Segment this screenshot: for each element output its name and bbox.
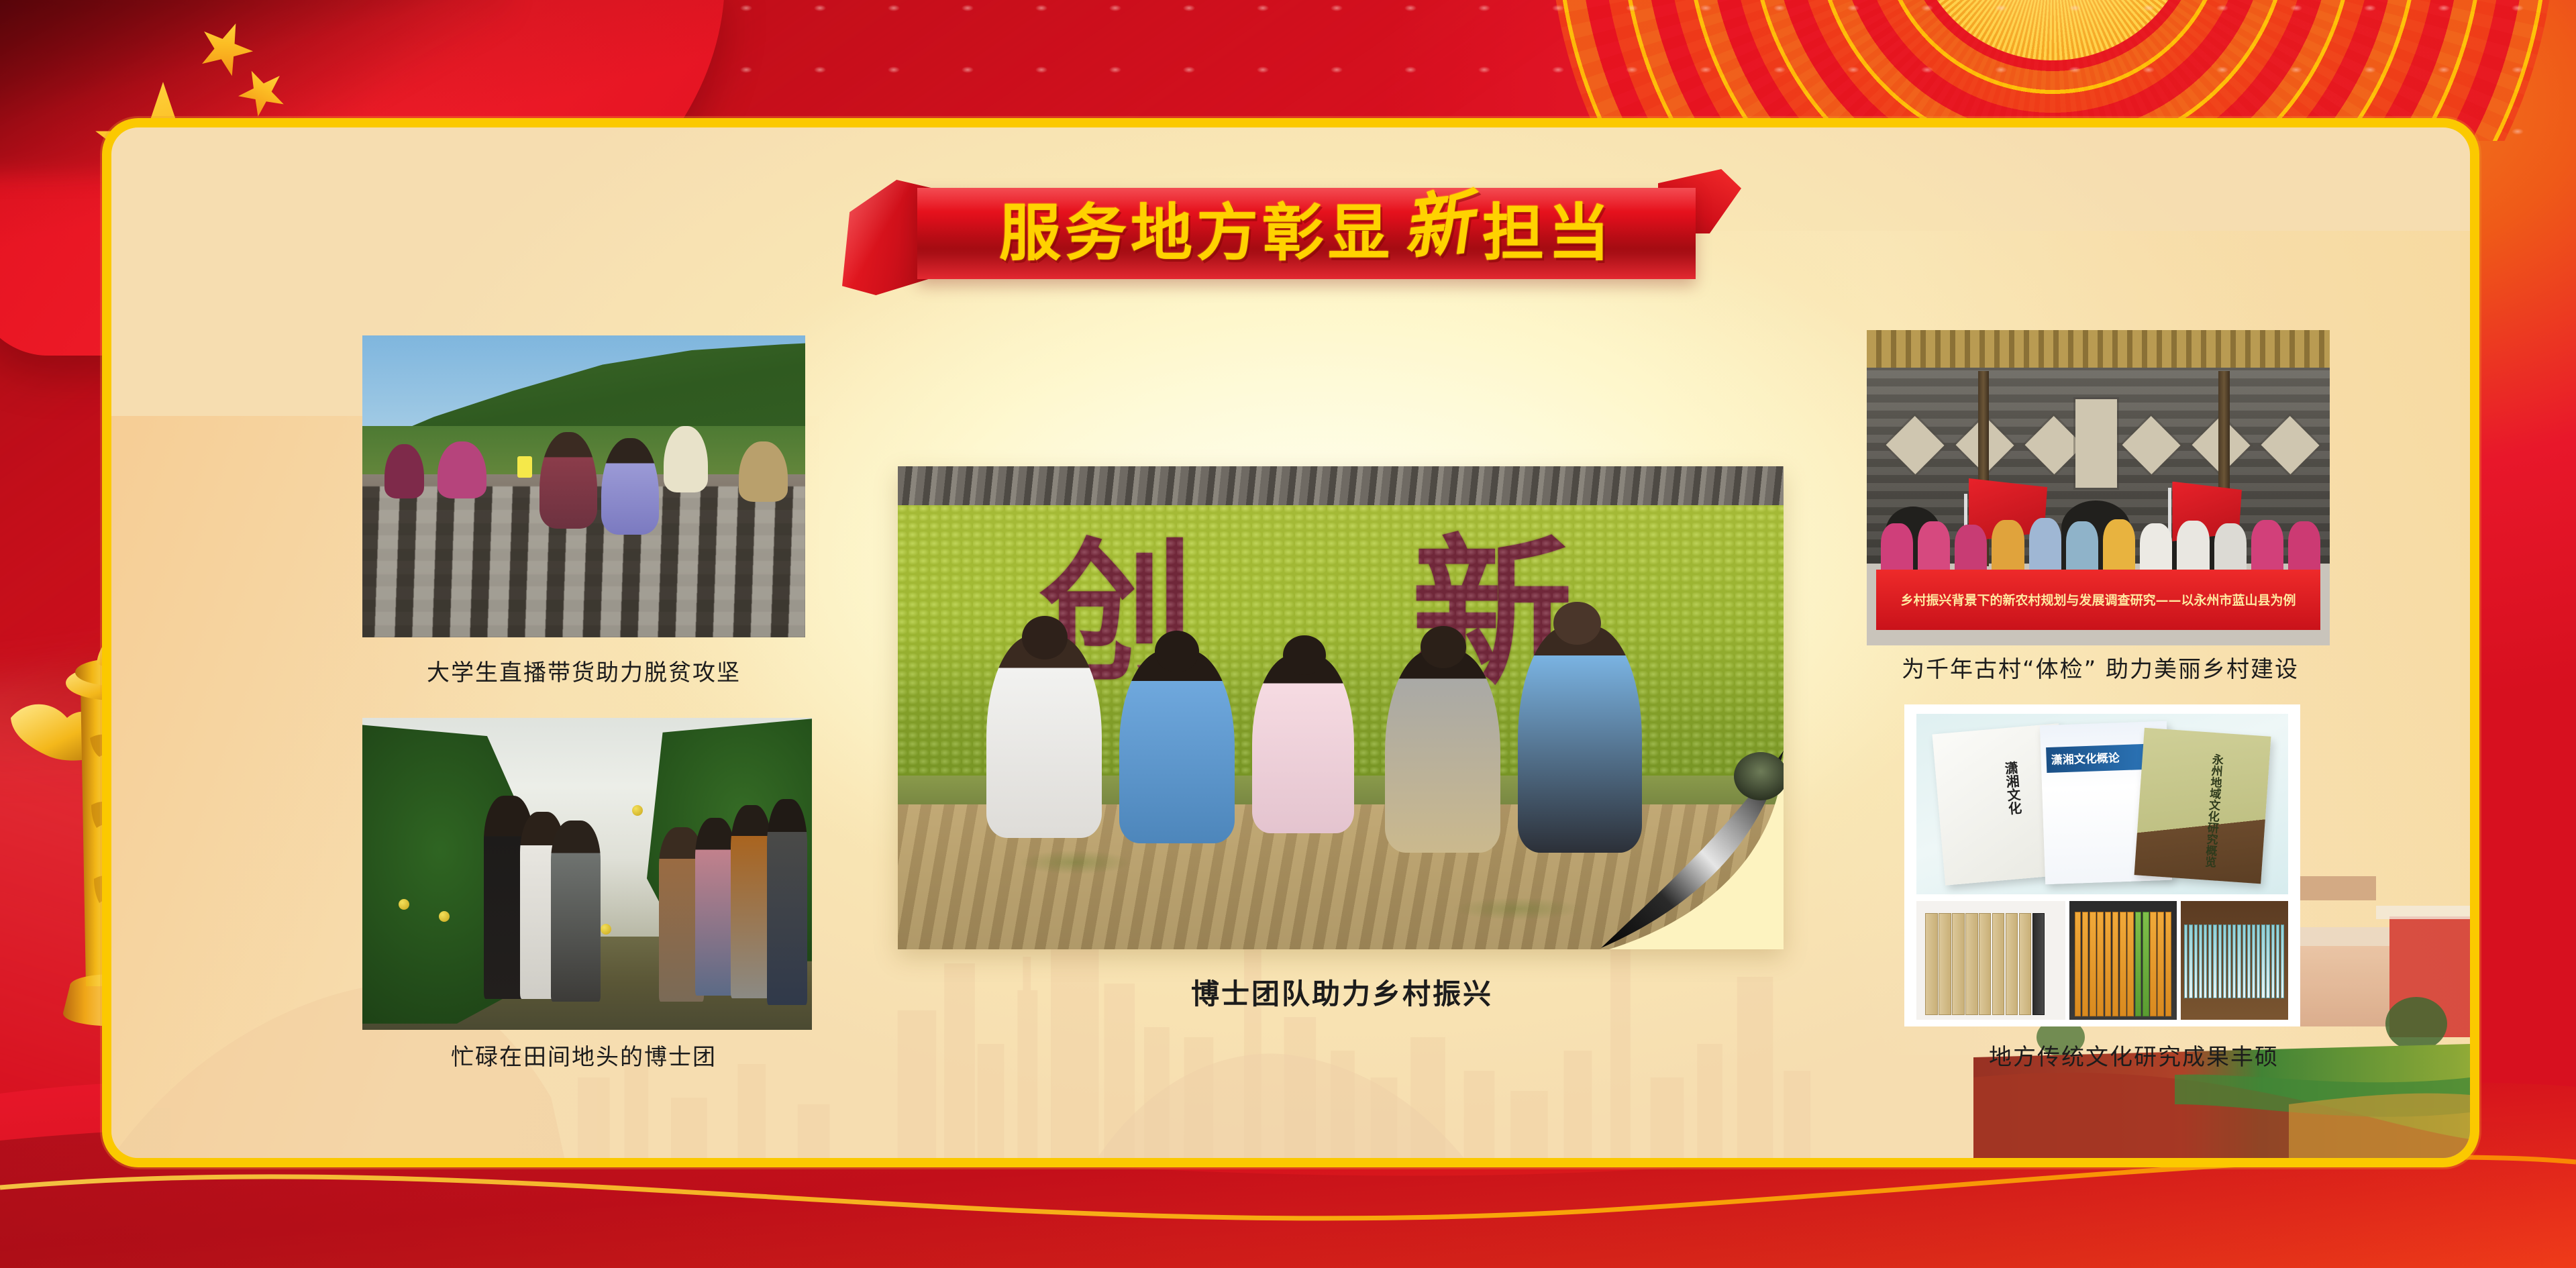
photo2-student-4 <box>767 799 807 1005</box>
photo2-fruit <box>399 899 409 910</box>
photo4-event-banner: 乡村振兴背景下的新农村规划与发展调查研究——以永州市蓝山县为例 <box>1876 570 2320 629</box>
field-research-caption: 博士团队助力乡村振兴 <box>1020 971 1664 1012</box>
photo5-book-display: 潇湘文化 潇湘文化概论 永州地域文化研究概览 <box>1916 714 2289 894</box>
title-text-group: 服务地方彰显 新 担当 <box>917 188 1696 279</box>
photo3-head-5 <box>1553 602 1601 645</box>
photo3-head-3 <box>1283 635 1325 675</box>
photo5-book-sets <box>1916 901 2289 1020</box>
title-ribbon: 服务地方彰显 新 担当 <box>842 169 1741 297</box>
mushroom-livestream-caption: 大学生直播带货助力脱贫攻坚 <box>268 654 899 687</box>
ancient-village-group-photo[interactable]: 乡村振兴背景下的新农村规划与发展调查研究——以永州市蓝山县为例 <box>1867 330 2330 645</box>
photo1-farmer-2 <box>437 441 486 499</box>
photo3-head-2 <box>1155 631 1199 672</box>
photo3-head-4 <box>1421 626 1467 668</box>
photo3-researcher-blue-2 <box>1518 626 1642 853</box>
ancient-village-caption: 为千年古村“体检” 助力美丽乡村建设 <box>1812 651 2389 684</box>
photo3-researcher-blue-1 <box>1119 650 1235 843</box>
photo3-researcher-white-coat <box>986 635 1102 838</box>
photo3-head-1 <box>1022 616 1068 659</box>
research-books-caption: 地方传统文化研究成果丰硕 <box>1845 1039 2422 1071</box>
book-set-library-shelf <box>2181 901 2288 1020</box>
book-title-1: 潇湘文化 <box>2000 760 2024 815</box>
book-title-3: 永州地域文化研究概览 <box>2201 753 2226 868</box>
photo3-farmer-grey <box>1385 650 1500 853</box>
photo1-farmer-4 <box>739 441 788 502</box>
title-segment-xin: 新 <box>1399 187 1476 264</box>
poster-canvas: 服务地方彰显 新 担当 大学生直播带货助力脱贫攻坚 <box>0 0 2576 1268</box>
photo4-hall-nameplate <box>2075 399 2117 488</box>
book-set-orange <box>2069 901 2177 1020</box>
book-set-yushun-dadian <box>1916 901 2065 1020</box>
title-segment-3: 担当 <box>1482 203 1614 264</box>
orchard-survey-caption: 忙碌在田间地头的博士团 <box>268 1039 899 1071</box>
research-books-photo[interactable]: 潇湘文化 潇湘文化概论 永州地域文化研究概览 <box>1904 704 2300 1026</box>
photo2-student-2 <box>551 821 601 1002</box>
title-segment-1: 服务地方彰显 <box>999 203 1394 264</box>
field-research-main-photo[interactable]: 创 新 <box>898 466 1784 949</box>
photo2-student-3 <box>695 818 735 996</box>
photo4-banner-text: 乡村振兴背景下的新农村规划与发展调查研究——以永州市蓝山县为例 <box>1900 590 2296 609</box>
orchard-survey-photo[interactable] <box>362 718 812 1030</box>
photo3-researcher-pink <box>1252 655 1354 833</box>
photo2-teacher-2 <box>731 805 771 998</box>
photo2-fruit <box>601 924 611 935</box>
photo4-eave-roof <box>1867 330 2330 371</box>
photo1-streamer-1 <box>539 432 597 529</box>
book-title-2: 潇湘文化概论 <box>2051 748 2120 768</box>
photo1-phone-icon <box>517 456 532 478</box>
book-cover-yongzhou-culture: 永州地域文化研究概览 <box>2134 728 2271 884</box>
photo1-farmer-3 <box>664 426 708 492</box>
mushroom-livestream-photo[interactable] <box>362 335 805 637</box>
